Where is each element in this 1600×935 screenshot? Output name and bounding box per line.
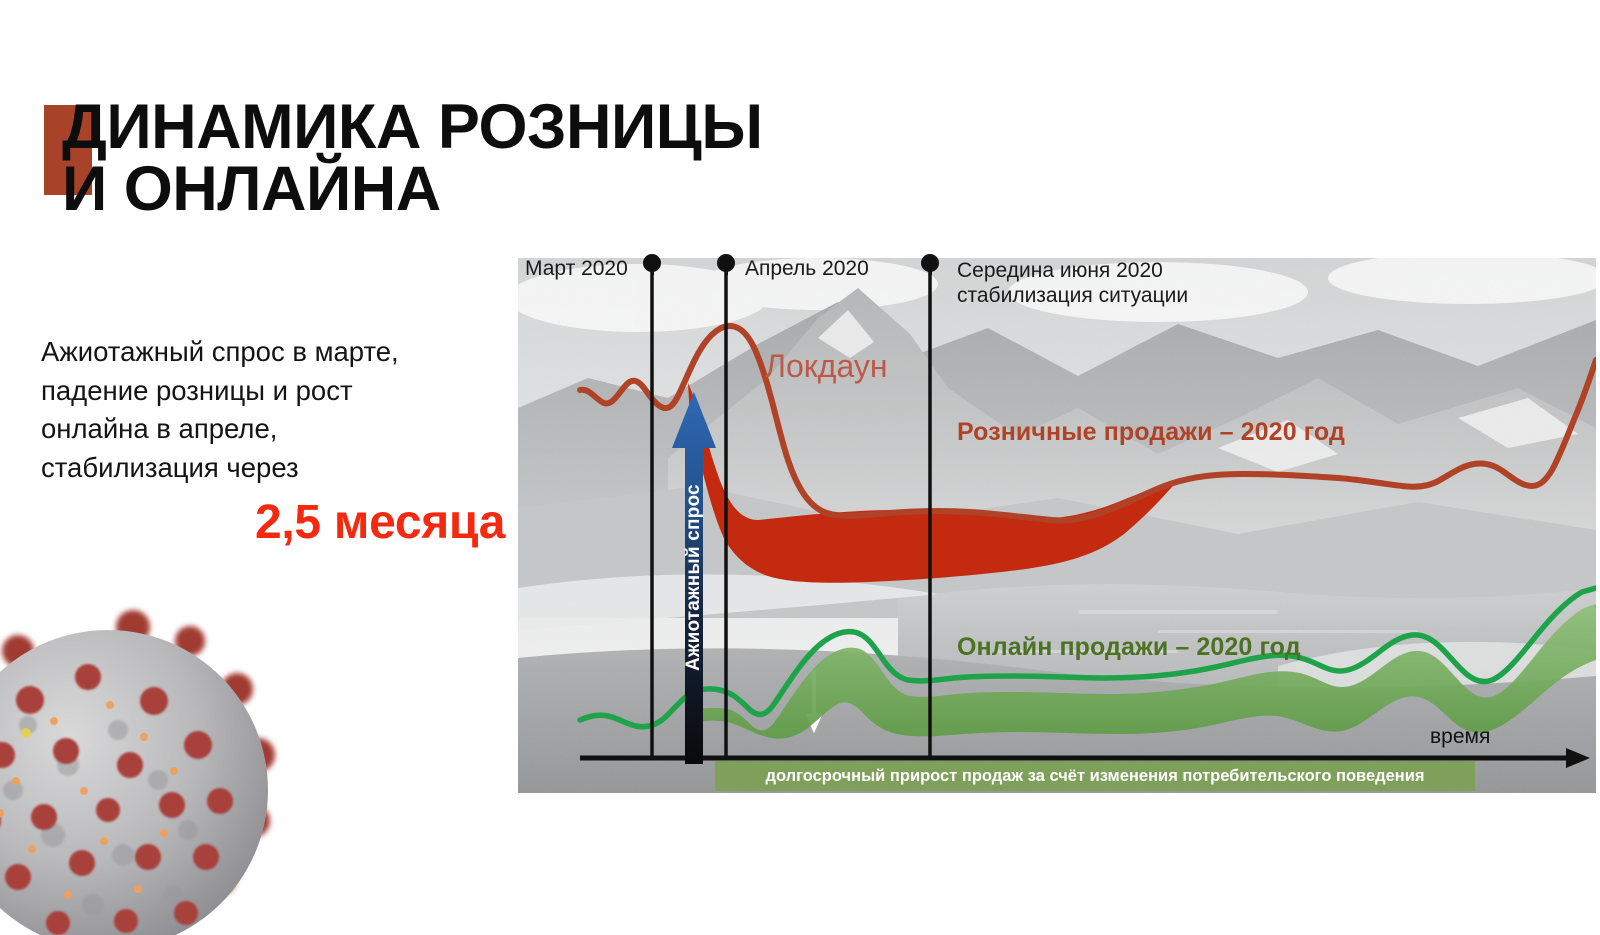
retail-drop-fill — [688, 383, 1178, 583]
demand-arrow-icon — [672, 392, 716, 764]
marker-stem — [725, 263, 728, 275]
legend-online-sales: Онлайн продажи – 2020 год — [957, 633, 1301, 662]
highlight-duration: 2,5 месяца — [255, 495, 505, 550]
body-paragraph: Ажиотажный спрос в марте, падение розниц… — [41, 333, 511, 487]
axis-label-time: время — [1430, 725, 1490, 749]
lockdown-annotation: Локдаун — [765, 348, 888, 385]
marker-stem — [929, 263, 932, 275]
long-term-growth-banner: долгосрочный прирост продаж за счёт изме… — [715, 761, 1475, 791]
legend-retail-sales: Розничные продажи – 2020 год — [957, 418, 1345, 447]
axis-arrow-icon — [1566, 748, 1590, 768]
marker-stem — [651, 263, 654, 275]
long-term-growth-text: долгосрочный прирост продаж за счёт изме… — [765, 767, 1424, 786]
page-title: ДИНАМИКА РОЗНИЦЫ И ОНЛАЙНА — [62, 96, 962, 221]
marker-label-april: Апрель 2020 — [745, 256, 869, 281]
coronavirus-illustration — [0, 605, 288, 935]
marker-label-june: Середина июня 2020 стабилизация ситуации — [957, 258, 1188, 308]
marker-label-march: Март 2020 — [525, 256, 628, 281]
slide-root: ДИНАМИКА РОЗНИЦЫ И ОНЛАЙНА Ажиотажный сп… — [0, 0, 1600, 900]
